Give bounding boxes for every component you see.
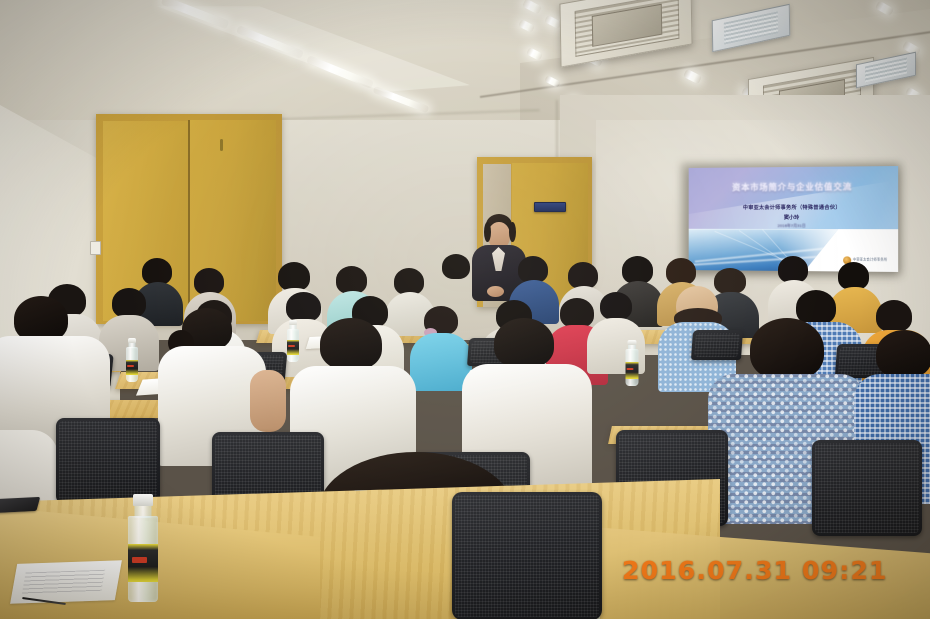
hair <box>666 258 696 285</box>
water-bottle-foreground-left[interactable] <box>126 494 160 602</box>
presenter-hair-right <box>509 222 516 242</box>
water-bottle-back-2[interactable] <box>125 338 139 382</box>
presenter-hair-left <box>484 222 491 242</box>
hair <box>286 292 321 322</box>
light-switch-plate[interactable] <box>90 241 101 255</box>
hair <box>394 268 424 295</box>
diffuser-louvers <box>723 11 778 44</box>
diffuser-louvers <box>865 58 907 83</box>
slide-presenter-name: 窦小玲 <box>697 214 890 221</box>
slide-title: 资本市场简介与企业估值交流 <box>701 180 885 193</box>
chair-front-left[interactable] <box>56 418 160 504</box>
hair <box>518 256 548 283</box>
hair <box>568 262 598 289</box>
hair <box>112 288 146 318</box>
hair <box>320 318 382 370</box>
label-accent <box>132 557 148 563</box>
hair <box>778 256 808 283</box>
label-accent <box>627 368 634 371</box>
hair <box>750 318 824 380</box>
hair <box>838 262 869 290</box>
door-sign-placard <box>534 202 566 212</box>
label-accent <box>127 365 133 367</box>
label-accent <box>288 345 294 347</box>
arm <box>250 370 286 432</box>
hair <box>876 300 912 332</box>
hair <box>560 298 594 328</box>
hair <box>278 262 310 291</box>
hair <box>622 256 653 284</box>
door-left-center-gap <box>188 120 190 321</box>
chair-foreground-right[interactable] <box>452 492 602 619</box>
hair <box>876 330 930 378</box>
hair <box>336 266 367 294</box>
seminar-photograph: 资本市场简介与企业估值交流 中审亚太会计师事务所（特殊普通合伙） 窦小玲 201… <box>0 0 930 619</box>
bottle-label <box>625 362 638 379</box>
hair <box>194 268 224 295</box>
presenter-hands <box>487 286 504 297</box>
bottle-label <box>126 360 138 375</box>
hair <box>142 258 172 285</box>
water-bottle-back-4[interactable] <box>624 340 639 386</box>
hair <box>494 318 554 368</box>
smartphone[interactable] <box>0 497 40 513</box>
water-bottle-back-1[interactable] <box>286 320 300 362</box>
chair-front-far-right[interactable] <box>812 440 922 536</box>
door-left-handle[interactable] <box>220 139 223 151</box>
slide-organization: 中审亚太会计师事务所（特殊普通合伙） <box>697 204 890 211</box>
bottle-label <box>128 544 158 582</box>
bottle-cap <box>133 494 153 506</box>
bottle-label <box>287 340 299 355</box>
slide-date: 2016年7月31日 <box>697 223 890 229</box>
camera-timestamp: 2016.07.31 09:21 <box>622 556 888 585</box>
chair-back-4[interactable] <box>691 330 743 360</box>
hair <box>714 268 746 294</box>
hair <box>600 292 632 320</box>
